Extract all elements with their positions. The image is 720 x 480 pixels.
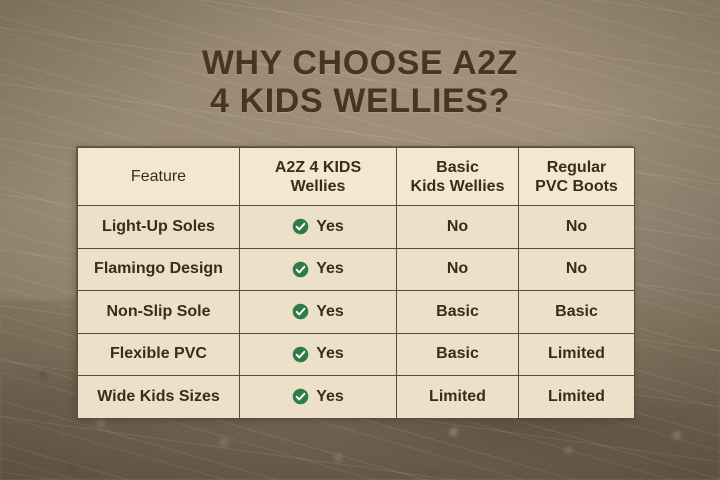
- cell-feature: Wide Kids Sizes: [78, 376, 240, 419]
- cell-regular: No: [519, 206, 635, 249]
- cell-a2z-label: Yes: [316, 388, 344, 406]
- yes-value-group: Yes: [244, 260, 392, 278]
- cell-a2z-label: Yes: [316, 260, 344, 278]
- cell-a2z-label: Yes: [316, 303, 344, 321]
- comparison-table-element: Feature A2Z 4 KIDS Wellies Basic Kids We…: [77, 147, 635, 419]
- cell-a2z: Yes: [240, 248, 397, 291]
- cell-basic: No: [397, 248, 519, 291]
- page-title: WHY CHOOSE A2Z 4 KIDS WELLIES?: [0, 44, 720, 120]
- cell-basic: Basic: [397, 333, 519, 376]
- cell-a2z: Yes: [240, 206, 397, 249]
- yes-value-group: Yes: [244, 303, 392, 321]
- table-row: Flexible PVCYesBasicLimited: [78, 333, 635, 376]
- column-header-a2z-line-2: Wellies: [244, 177, 392, 196]
- yes-value-group: Yes: [244, 345, 392, 363]
- column-header-regular-line-2: PVC Boots: [523, 177, 630, 196]
- cell-regular: Limited: [519, 333, 635, 376]
- check-circle-icon: [292, 218, 309, 235]
- table-body: Light-Up SolesYesNoNoFlamingo DesignYesN…: [78, 206, 635, 419]
- cell-a2z: Yes: [240, 291, 397, 334]
- table-row: Wide Kids SizesYesLimitedLimited: [78, 376, 635, 419]
- column-header-regular-pvc-boots: Regular PVC Boots: [519, 148, 635, 206]
- cell-feature: Light-Up Soles: [78, 206, 240, 249]
- comparison-table: Feature A2Z 4 KIDS Wellies Basic Kids We…: [76, 146, 633, 418]
- cell-a2z: Yes: [240, 333, 397, 376]
- table-row: Flamingo DesignYesNoNo: [78, 248, 635, 291]
- column-header-regular-line-1: Regular: [523, 158, 630, 177]
- page-title-line-1: WHY CHOOSE A2Z: [0, 44, 720, 82]
- cell-basic: No: [397, 206, 519, 249]
- cell-a2z: Yes: [240, 376, 397, 419]
- yes-value-group: Yes: [244, 388, 392, 406]
- cell-a2z-label: Yes: [316, 218, 344, 236]
- cell-feature: Flexible PVC: [78, 333, 240, 376]
- cell-basic: Basic: [397, 291, 519, 334]
- page-title-line-2: 4 KIDS WELLIES?: [0, 82, 720, 120]
- cell-regular: Limited: [519, 376, 635, 419]
- cell-a2z-label: Yes: [316, 345, 344, 363]
- cell-regular: Basic: [519, 291, 635, 334]
- check-circle-icon: [292, 388, 309, 405]
- cell-regular: No: [519, 248, 635, 291]
- check-circle-icon: [292, 261, 309, 278]
- check-circle-icon: [292, 346, 309, 363]
- table-header-row: Feature A2Z 4 KIDS Wellies Basic Kids We…: [78, 148, 635, 206]
- cell-basic: Limited: [397, 376, 519, 419]
- yes-value-group: Yes: [244, 218, 392, 236]
- cell-feature: Non-Slip Sole: [78, 291, 240, 334]
- column-header-feature: Feature: [78, 148, 240, 206]
- table-row: Non-Slip SoleYesBasicBasic: [78, 291, 635, 334]
- cell-feature: Flamingo Design: [78, 248, 240, 291]
- column-header-basic-line-2: Kids Wellies: [401, 177, 514, 196]
- column-header-basic-kids-wellies: Basic Kids Wellies: [397, 148, 519, 206]
- column-header-a2z-4-kids-wellies: A2Z 4 KIDS Wellies: [240, 148, 397, 206]
- column-header-a2z-line-1: A2Z 4 KIDS: [244, 158, 392, 177]
- column-header-basic-line-1: Basic: [401, 158, 514, 177]
- table-row: Light-Up SolesYesNoNo: [78, 206, 635, 249]
- check-circle-icon: [292, 303, 309, 320]
